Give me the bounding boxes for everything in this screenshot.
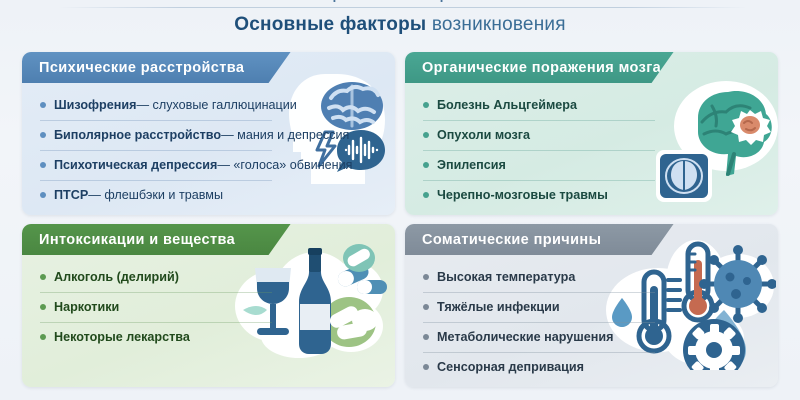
bullet-icon	[423, 192, 429, 198]
list-item-label: Эпилепсия	[437, 158, 506, 172]
page-title-strong: Основные факторы	[234, 14, 426, 35]
list-item-detail: — флешбэки и травмы	[88, 188, 223, 202]
list-item-detail: — слуховые галлюцинации	[136, 98, 296, 112]
bullet-icon	[40, 334, 46, 340]
list-organic-brain-damage: Болезнь Альцгеймера Опухоли мозга Эпилеп…	[405, 83, 778, 210]
page-title: Основные факторы возникновения	[0, 14, 800, 36]
list-item-label: Высокая температура	[437, 270, 575, 284]
list-item[interactable]: Психотическая депрессия — «голоса» обвин…	[40, 150, 395, 180]
cut-off-top-text: Острый психоз — причины	[0, 0, 800, 2]
card-header-organic-brain-damage: Органические поражения мозга	[405, 52, 674, 83]
bullet-icon	[423, 304, 429, 310]
list-item[interactable]: Биполярное расстройство — мания и депрес…	[40, 120, 395, 150]
list-item-label: Сенсорная депривация	[437, 360, 584, 374]
card-intoxication-substances[interactable]: Интоксикации и вещества	[22, 224, 395, 387]
list-item[interactable]: Болезнь Альцгеймера	[423, 90, 778, 120]
top-divider-rule	[58, 7, 748, 8]
list-item[interactable]: Шизофрения — слуховые галлюцинации	[40, 90, 395, 120]
bullet-icon	[40, 132, 46, 138]
list-item[interactable]: Метаболические нарушения	[423, 322, 778, 352]
list-item[interactable]: Тяжёлые инфекции	[423, 292, 778, 322]
bullet-icon	[423, 274, 429, 280]
list-intoxication-substances: Алкоголь (делирий) Наркотики Некоторые л…	[22, 255, 395, 352]
cards-row-top: Психические расстройства	[22, 52, 778, 215]
bullet-icon	[423, 132, 429, 138]
card-organic-brain-damage[interactable]: Органические поражения мозга	[405, 52, 778, 215]
card-header-somatic-causes: Соматические причины	[405, 224, 674, 255]
list-somatic-causes: Высокая температура Тяжёлые инфекции Мет…	[405, 255, 778, 382]
bullet-icon	[40, 162, 46, 168]
bullet-icon	[423, 364, 429, 370]
card-header-intoxication-substances: Интоксикации и вещества	[22, 224, 291, 255]
card-somatic-causes[interactable]: Соматические причины	[405, 224, 778, 387]
list-item[interactable]: Опухоли мозга	[423, 120, 778, 150]
list-item[interactable]: Наркотики	[40, 292, 395, 322]
list-item-label: Алкоголь (делирий)	[54, 270, 179, 284]
bullet-icon	[423, 334, 429, 340]
card-header-mental-disorders: Психические расстройства	[22, 52, 291, 83]
list-item[interactable]: Эпилепсия	[423, 150, 778, 180]
card-mental-disorders[interactable]: Психические расстройства	[22, 52, 395, 215]
bullet-icon	[423, 102, 429, 108]
list-item-label: Тяжёлые инфекции	[437, 300, 560, 314]
bullet-icon	[40, 274, 46, 280]
bullet-icon	[423, 162, 429, 168]
list-item-detail: — «голоса» обвинения	[217, 158, 352, 172]
list-item-label: Шизофрения	[54, 98, 136, 112]
list-item[interactable]: Сенсорная депривация	[423, 352, 778, 382]
bullet-icon	[40, 102, 46, 108]
bullet-icon	[40, 304, 46, 310]
list-item[interactable]: Черепно-мозговые травмы	[423, 180, 778, 210]
list-item[interactable]: ПТСР — флешбэки и травмы	[40, 180, 395, 210]
list-item-detail: — мания и депрессия	[221, 128, 349, 142]
list-item[interactable]: Некоторые лекарства	[40, 322, 395, 352]
cards-grid: Психические расстройства	[22, 52, 778, 396]
list-item-label: ПТСР	[54, 188, 88, 202]
cards-row-bottom: Интоксикации и вещества	[22, 224, 778, 387]
list-item[interactable]: Алкоголь (делирий)	[40, 262, 395, 292]
list-item-label: Черепно-мозговые травмы	[437, 188, 608, 202]
list-item-label: Некоторые лекарства	[54, 330, 190, 344]
list-item[interactable]: Высокая температура	[423, 262, 778, 292]
list-item-label: Наркотики	[54, 300, 119, 314]
list-item-label: Психотическая депрессия	[54, 158, 217, 172]
list-item-label: Метаболические нарушения	[437, 330, 613, 344]
page-title-light: возникновения	[432, 14, 566, 35]
bullet-icon	[40, 192, 46, 198]
list-item-label: Опухоли мозга	[437, 128, 530, 142]
list-mental-disorders: Шизофрения — слуховые галлюцинации Бипол…	[22, 83, 395, 210]
list-item-label: Биполярное расстройство	[54, 128, 221, 142]
list-item-label: Болезнь Альцгеймера	[437, 98, 577, 112]
